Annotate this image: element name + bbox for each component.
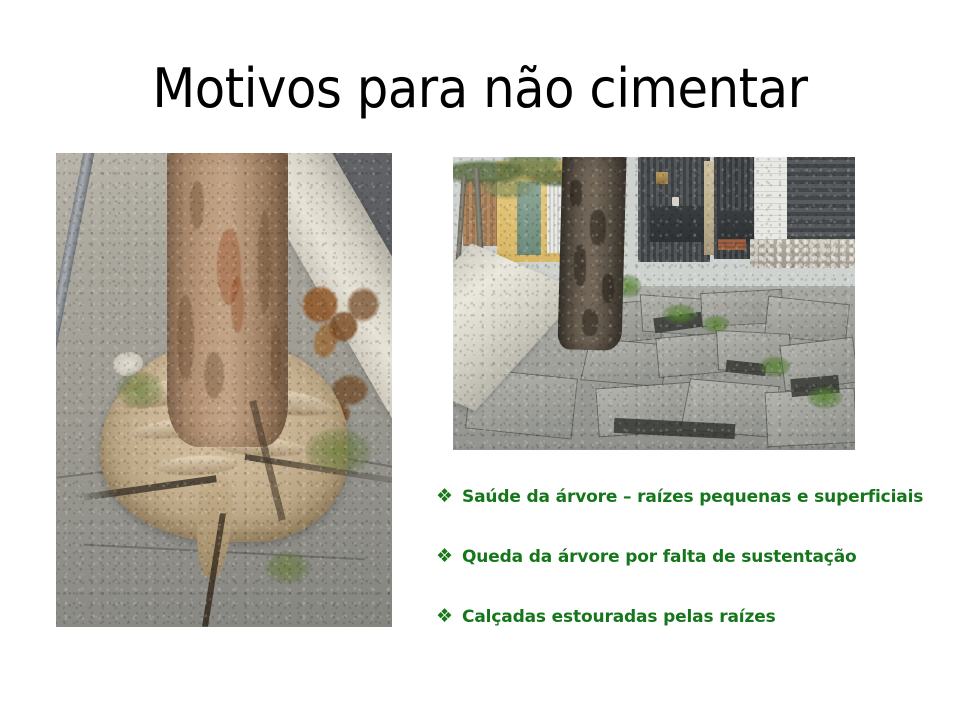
weed-growth	[759, 356, 791, 377]
bark-texture	[258, 210, 271, 314]
presentation-slide: Motivos para não cimentar	[0, 0, 960, 720]
weed-growth	[702, 315, 730, 333]
list-item: ❖ Calçadas estouradas pelas raízes	[436, 607, 952, 667]
bullet-list: ❖ Saúde da árvore – raízes pequenas e su…	[436, 487, 952, 667]
pebble-wall-base	[750, 239, 855, 268]
garage-shutter-door	[787, 157, 855, 244]
diamond-bullet-icon: ❖	[436, 607, 462, 626]
bark-texture	[582, 309, 598, 335]
moss-patch	[116, 371, 163, 409]
bullet-text: Calçadas estouradas pelas raízes	[462, 607, 776, 627]
door-handle	[672, 197, 678, 206]
weed-growth	[807, 386, 843, 409]
bark-texture	[590, 210, 606, 245]
bark-texture	[231, 276, 244, 333]
bark-texture	[570, 180, 582, 206]
bullet-text: Queda da árvore por falta de sustentação	[462, 547, 857, 567]
bark-texture	[177, 295, 194, 380]
gate-lower-panel	[650, 206, 710, 242]
bark-texture	[574, 245, 586, 286]
diamond-bullet-icon: ❖	[436, 547, 462, 566]
photo-street-tree-broken-pavement	[453, 157, 855, 450]
door-plaque	[656, 172, 668, 185]
list-item: ❖ Saúde da árvore – raízes pequenas e su…	[436, 487, 952, 547]
bullet-text: Saúde da árvore – raízes pequenas e supe…	[462, 487, 923, 507]
brick-step	[718, 239, 746, 250]
white-tiled-wall	[755, 157, 791, 251]
bark-texture	[190, 181, 203, 228]
photo-tree-trunk-roots-cracked-sidewalk	[56, 153, 392, 627]
weed-growth	[662, 304, 698, 325]
diamond-bullet-icon: ❖	[436, 487, 462, 506]
page-title: Motivos para não cimentar	[94, 58, 867, 120]
gate-lower-panel	[718, 211, 754, 242]
list-item: ❖ Queda da árvore por falta de sustentaç…	[436, 547, 952, 607]
bark-texture	[204, 352, 224, 399]
bark-texture	[602, 274, 614, 303]
